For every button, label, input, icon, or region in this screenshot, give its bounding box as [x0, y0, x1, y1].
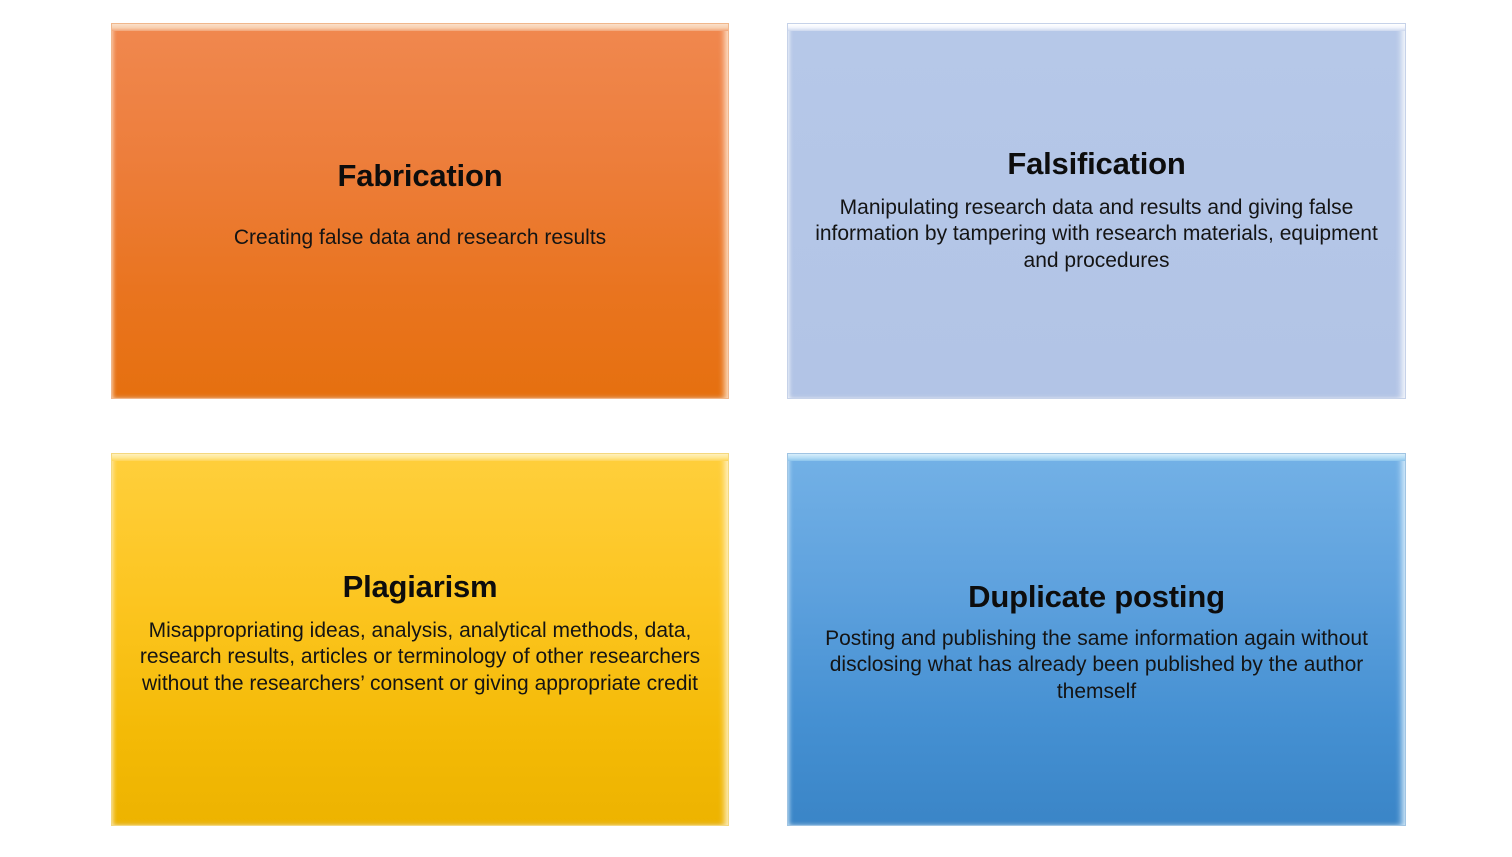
card-duplicate-posting-title: Duplicate posting	[788, 579, 1405, 616]
card-falsification[interactable]: Falsification Manipulating research data…	[788, 24, 1405, 398]
card-falsification-title: Falsification	[788, 146, 1405, 183]
card-duplicate-posting-body: Duplicate posting Posting and publishing…	[788, 454, 1405, 706]
card-plagiarism[interactable]: Plagiarism Misappropriating ideas, analy…	[112, 454, 728, 825]
slide-canvas: Fabrication Creating false data and rese…	[0, 0, 1512, 857]
card-duplicate-posting[interactable]: Duplicate posting Posting and publishing…	[788, 454, 1405, 825]
card-falsification-description: Manipulating research data and results a…	[814, 195, 1380, 276]
card-plagiarism-description: Misappropriating ideas, analysis, analyt…	[122, 618, 718, 699]
card-falsification-body: Falsification Manipulating research data…	[788, 24, 1405, 275]
card-plagiarism-body: Plagiarism Misappropriating ideas, analy…	[112, 454, 728, 698]
card-fabrication-description: Creating false data and research results	[134, 225, 706, 252]
card-duplicate-posting-description: Posting and publishing the same informat…	[814, 626, 1380, 707]
card-plagiarism-title: Plagiarism	[112, 569, 728, 606]
card-fabrication[interactable]: Fabrication Creating false data and rese…	[112, 24, 728, 398]
card-fabrication-body: Fabrication Creating false data and rese…	[112, 24, 728, 251]
card-fabrication-title: Fabrication	[112, 158, 728, 195]
